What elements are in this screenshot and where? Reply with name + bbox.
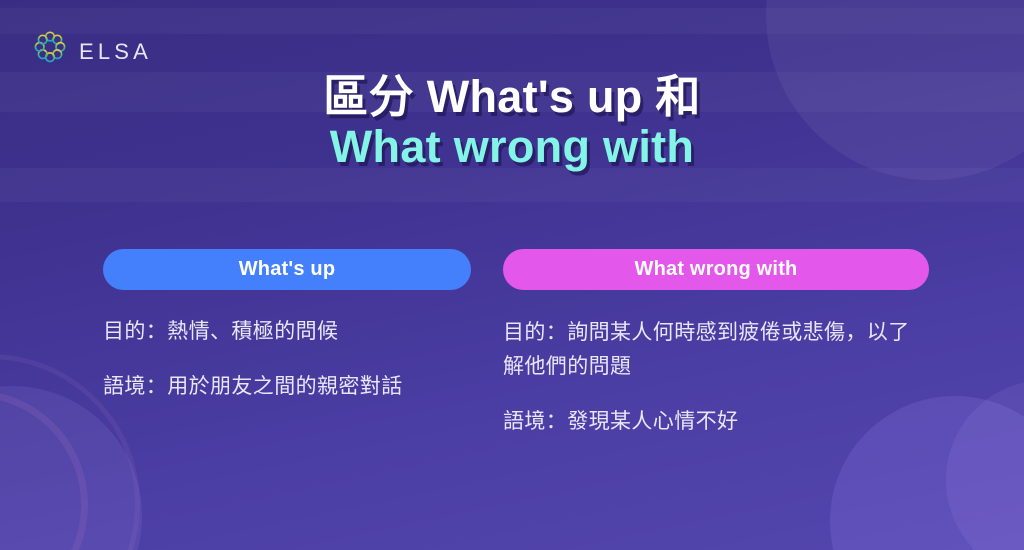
pill-what-wrong-with[interactable]: What wrong with: [503, 249, 929, 290]
decorative-stripe-3: [0, 168, 1024, 202]
what-wrong-with-context-line: 語境：發現某人心情不好: [503, 405, 929, 439]
what-wrong-with-purpose-line: 目的：詢問某人何時感到疲倦或悲傷，以了解他們的問題: [503, 316, 929, 384]
decorative-stripe-1: [0, 8, 1024, 34]
page-title-line-2: What wrong with: [0, 122, 1024, 172]
page-title-line-1: 區分 What's up 和: [0, 72, 1024, 122]
whats-up-context-line: 語境：用於朋友之間的親密對話: [103, 370, 471, 404]
comparison-columns: What's up 目的：熱情、積極的問候 語境：用於朋友之間的親密對話 Wha…: [0, 249, 1024, 439]
brand-logo[interactable]: ELSA: [32, 31, 152, 72]
what-wrong-with-description: 目的：詢問某人何時感到疲倦或悲傷，以了解他們的問題 語境：發現某人心情不好: [503, 316, 929, 439]
page-title: 區分 What's up 和 What wrong with: [0, 72, 1024, 173]
pill-whats-up-label: What's up: [239, 258, 336, 281]
brand-wordmark: ELSA: [79, 41, 152, 63]
column-whats-up: What's up 目的：熱情、積極的問候 語境：用於朋友之間的親密對話: [0, 249, 497, 439]
pill-whats-up[interactable]: What's up: [103, 249, 471, 290]
whats-up-description: 目的：熱情、積極的問候 語境：用於朋友之間的親密對話: [103, 315, 471, 404]
whats-up-purpose-line: 目的：熱情、積極的問候: [103, 315, 471, 349]
slide-canvas: ELSA 區分 What's up 和 What wrong with What…: [0, 0, 1024, 550]
pill-what-wrong-with-label: What wrong with: [635, 258, 798, 281]
elsa-flower-logo-icon: [32, 31, 68, 72]
column-what-wrong-with: What wrong with 目的：詢問某人何時感到疲倦或悲傷，以了解他們的問…: [497, 249, 1024, 439]
